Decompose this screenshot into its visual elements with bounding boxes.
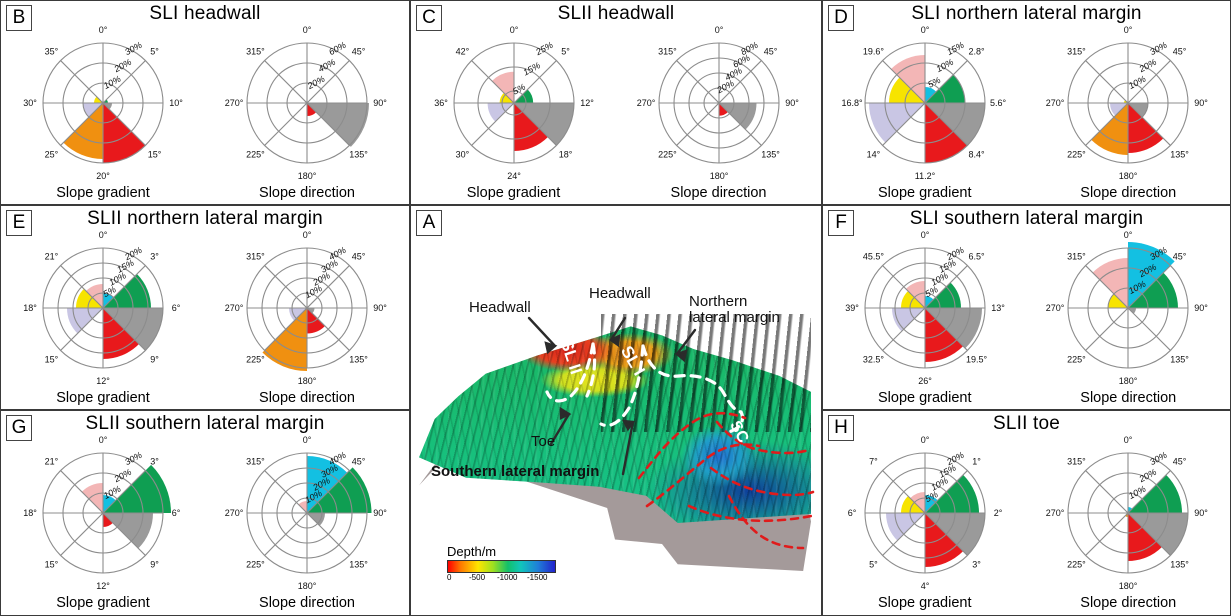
rose-ring-label: 10% (102, 74, 123, 91)
rose-caption-direction: Slope direction (259, 185, 355, 201)
rose-tick-label: 45.5° (863, 251, 885, 261)
rose-svg-slot: 0°3°6°9°12°15°18°21°10%20%30% (5, 433, 201, 601)
rose-petal (869, 103, 925, 143)
rose-tick-label: 315° (1067, 456, 1086, 466)
rose-direction: 0°45°90°135°180°225°270°315°10%20%30%40% (209, 228, 405, 396)
rose-ring-labels: 20%40%60%80% (714, 40, 759, 96)
rose-petals (307, 103, 369, 147)
rose-tick-label: 24° (507, 171, 521, 181)
rose-direction: 0°45°90°135°180°225°270°315°20%40%60% (209, 23, 405, 191)
rose-ring-label: 30% (319, 258, 340, 275)
map-label-toe: Toe (531, 434, 555, 450)
rose-axes (247, 453, 367, 573)
rose-tick-label: 90° (373, 303, 387, 313)
rose-ring-label: 20% (112, 57, 133, 75)
panel-letter-g: G (6, 415, 32, 441)
rose-tick-label: 135° (761, 150, 780, 160)
rose-caption-direction: Slope direction (1080, 595, 1176, 611)
rose-axes (1068, 248, 1188, 368)
rose-axes (247, 248, 367, 368)
rose-axes (454, 43, 574, 163)
rose-tick-label: 180° (1119, 171, 1138, 181)
rose-tick-label: 19.6° (863, 46, 885, 56)
rose-direction: 0°45°90°135°180°225°270°315°10%20%30%40% (209, 433, 405, 601)
panel-letter-b: B (6, 5, 32, 31)
rose-direction-c: 0°45°90°135°180°225°270°315°20%40%60%80%… (616, 19, 821, 204)
rose-tick-label: 135° (1171, 355, 1190, 365)
rose-tick-label: 0° (303, 230, 312, 240)
rose-petal (719, 103, 757, 130)
rose-axes (1068, 43, 1188, 163)
rose-tick-label: 90° (1194, 508, 1208, 518)
rose-ring-label: 60% (327, 40, 348, 57)
rose-caption-direction: Slope direction (259, 390, 355, 406)
rose-ring-label: 40% (327, 450, 348, 467)
rose-ring-label: 30% (123, 450, 144, 467)
rose-svg-slot: 0°45°90°135°180°225°270°315°10%20%30% (1030, 433, 1226, 601)
rose-tick-label: 1° (972, 456, 981, 466)
rose-tick-label: 13° (991, 303, 1005, 313)
rose-gradient: 0°3°6°9°12°15°18°21°5%10%15%20% (5, 228, 201, 396)
rose-tick-label: 20° (96, 171, 110, 181)
rose-gradient-e: 0°3°6°9°12°15°18°21°5%10%15%20% Slope gr… (1, 224, 205, 409)
rose-svg-slot: 0°5°10°15°20°25°30°35°10%20%30% (5, 23, 201, 191)
rose-tick-label: 0° (509, 25, 518, 35)
rose-tick-label: 18° (23, 508, 37, 518)
rose-tick-label: 0° (99, 25, 108, 35)
rose-axes (865, 453, 985, 573)
rose-tick-label: 270° (225, 98, 244, 108)
rose-tick-label: 15° (148, 150, 162, 160)
canyon-outline-dashed (639, 413, 813, 548)
rose-tick-label: 180° (298, 171, 317, 181)
map-label-headwall-right: Headwall (589, 286, 651, 302)
rose-tick-label: 12° (96, 376, 110, 386)
rose-tick-label: 0° (920, 230, 929, 240)
rose-ring-label: 15% (115, 258, 136, 275)
panel-g: G SLII southern lateral margin 0°3°6°9°1… (0, 410, 410, 616)
legend-tick-0: 0 (447, 573, 451, 582)
rose-tick-label: 270° (1046, 303, 1065, 313)
rose-tick-label: 315° (1067, 46, 1086, 56)
rose-tick-label: 45° (763, 46, 777, 56)
rose-pair-c: 0°5°12°18°24°30°36°42°5%15%25% Slope gra… (411, 19, 821, 204)
rose-tick-label: 270° (225, 508, 244, 518)
rose-tick-label: 6.5° (968, 251, 985, 261)
rose-tick-label: 39° (845, 303, 859, 313)
rose-tick-label: 45° (352, 46, 366, 56)
map-label-northern-lateral-margin: Northern lateral margin (689, 294, 780, 326)
rose-tick-label: 6° (847, 508, 856, 518)
rose-tick-label: 30° (455, 150, 469, 160)
rose-gradient: 0°2.8°5.6°8.4°11.2°14°16.8°19.6°5%10%15% (827, 23, 1023, 191)
rose-tick-label: 0° (1124, 435, 1133, 445)
rose-gradient-d: 0°2.8°5.6°8.4°11.2°14°16.8°19.6°5%10%15%… (823, 19, 1027, 204)
rose-tick-label: 90° (373, 508, 387, 518)
rose-petals (719, 103, 757, 130)
rose-direction-g: 0°45°90°135°180°225°270°315°10%20%30%40%… (205, 429, 409, 615)
panel-c: C SLII headwall 0°5°12°18°24°30°36°42°5%… (410, 0, 822, 205)
rose-svg-slot: 0°45°90°135°180°225°270°315°10%20%30% (1030, 23, 1226, 191)
rose-pair-e: 0°3°6°9°12°15°18°21°5%10%15%20% Slope gr… (1, 224, 409, 409)
rose-ring-label: 10% (303, 283, 324, 300)
rose-caption-direction: Slope direction (671, 185, 767, 201)
rose-direction-f: 0°45°90°135°180°225°270°315°10%20%30% Sl… (1027, 224, 1231, 409)
rose-tick-label: 6° (172, 508, 181, 518)
rose-tick-label: 90° (373, 98, 387, 108)
rose-svg-slot: 0°45°90°135°180°225°270°315°10%20%30%40% (209, 228, 405, 396)
rose-direction: 0°45°90°135°180°225°270°315°10%20%30% (1030, 433, 1226, 601)
rose-tick-label: 315° (658, 46, 677, 56)
rose-tick-label: 0° (1124, 230, 1133, 240)
rose-tick-label: 270° (1046, 508, 1065, 518)
rose-tick-label: 36° (434, 98, 448, 108)
rose-petal (63, 103, 103, 159)
rose-tick-label: 3° (972, 560, 981, 570)
rose-ring-label: 60% (731, 53, 752, 70)
rose-tick-label: 90° (1194, 303, 1208, 313)
rose-tick-label: 5° (561, 46, 570, 56)
rose-tick-label: 9° (150, 560, 159, 570)
legend-tick-3: -1500 (527, 573, 547, 582)
rose-tick-label: 180° (709, 171, 728, 181)
rose-direction-h: 0°45°90°135°180°225°270°315°10%20%30% Sl… (1027, 429, 1231, 615)
depth-legend: Depth/m 0 -500 -1000 -1500 (447, 544, 557, 585)
rose-direction-b: 0°45°90°135°180°225°270°315°20%40%60% Sl… (205, 19, 409, 204)
rose-tick-label: 0° (303, 25, 312, 35)
rose-caption-gradient: Slope gradient (878, 390, 972, 406)
rose-tick-label: 225° (246, 560, 265, 570)
rose-direction: 0°45°90°135°180°225°270°315°10%20%30% (1030, 228, 1226, 396)
map-stage: Headwall Headwall Northern lateral margi… (411, 206, 822, 616)
rose-tick-label: 180° (1119, 581, 1138, 591)
rose-tick-label: 135° (349, 560, 368, 570)
rose-tick-label: 90° (1194, 98, 1208, 108)
rose-tick-label: 21° (45, 456, 59, 466)
rose-tick-label: 16.8° (841, 98, 863, 108)
rose-tick-label: 18° (558, 150, 572, 160)
rose-ring-label: 10% (934, 57, 955, 74)
rose-gradient-b: 0°5°10°15°20°25°30°35°10%20%30% Slope gr… (1, 19, 205, 204)
rose-tick-label: 21° (45, 251, 59, 261)
rose-direction-e: 0°45°90°135°180°225°270°315°10%20%30%40%… (205, 224, 409, 409)
rose-ring-label: 15% (945, 40, 966, 57)
rose-tick-label: 0° (1124, 25, 1133, 35)
rose-tick-label: 5° (150, 46, 159, 56)
rose-tick-label: 10° (169, 98, 183, 108)
rose-svg-slot: 0°6.5°13°19.5°26°32.5°39°45.5°5%10%15%20… (827, 228, 1023, 396)
panel-a-map: A (410, 205, 822, 616)
legend-colorbar (447, 560, 556, 573)
rose-ring-label: 10% (929, 475, 950, 492)
rose-petal (262, 308, 307, 371)
rose-tick-label: 45° (1173, 251, 1187, 261)
rose-ring-label: 30% (1148, 450, 1169, 467)
annotation-arrows (529, 318, 695, 474)
rose-ring-label: 20% (714, 78, 735, 96)
rose-ring-label: 15% (521, 60, 542, 77)
rose-ring-label: 20% (1137, 467, 1158, 485)
panel-letter-h: H (828, 415, 854, 441)
rose-axes (43, 248, 163, 368)
rose-tick-label: 30° (23, 98, 37, 108)
rose-svg-slot: 0°45°90°135°180°225°270°315°10%20%30%40% (209, 433, 405, 601)
panel-letter-f: F (828, 210, 854, 236)
rose-ring-label: 20% (305, 74, 326, 92)
rose-tick-label: 0° (920, 435, 929, 445)
rose-tick-label: 19.5° (966, 355, 988, 365)
rose-gradient-h: 0°1°2°3°4°5°6°7°5%10%15%20% Slope gradie… (823, 429, 1027, 615)
rose-tick-label: 180° (1119, 376, 1138, 386)
rose-tick-label: 0° (99, 230, 108, 240)
rose-gradient: 0°6.5°13°19.5°26°32.5°39°45.5°5%10%15%20… (827, 228, 1023, 396)
rose-tick-label: 42° (455, 46, 469, 56)
legend-tick-2: -1000 (497, 573, 517, 582)
panel-b: B SLI headwall 0°5°10°15°20°25°30°35°10%… (0, 0, 410, 205)
rose-svg-slot: 0°2.8°5.6°8.4°11.2°14°16.8°19.6°5%10%15% (827, 23, 1023, 191)
panel-letter-d: D (828, 5, 854, 31)
rose-axes (865, 43, 985, 163)
rose-tick-label: 270° (225, 303, 244, 313)
rose-tick-label: 26° (918, 376, 932, 386)
rose-tick-label: 12° (96, 581, 110, 591)
rose-svg-slot: 0°1°2°3°4°5°6°7°5%10%15%20% (827, 433, 1023, 601)
rose-ring-label: 10% (1127, 74, 1148, 91)
rose-caption-gradient: Slope gradient (56, 185, 150, 201)
rose-ring-labels: 10%20%30%40% (303, 245, 348, 300)
rose-tick-label: 35° (45, 46, 59, 56)
rose-tick-label: 12° (580, 98, 594, 108)
rose-ring-label: 10% (929, 270, 950, 287)
rose-tick-label: 225° (1067, 150, 1086, 160)
rose-tick-label: 225° (246, 150, 265, 160)
rose-petal (103, 513, 153, 548)
rose-tick-label: 2.8° (968, 46, 985, 56)
rose-axes (247, 43, 367, 163)
rose-gradient: 0°5°12°18°24°30°36°42°5%15%25% (416, 23, 612, 191)
rose-ring-label: 20% (1137, 57, 1158, 75)
rose-tick-label: 225° (658, 150, 677, 160)
panel-letter-a: A (416, 210, 442, 236)
rose-svg-slot: 0°45°90°135°180°225°270°315°10%20%30% (1030, 228, 1226, 396)
legend-ticks: 0 -500 -1000 -1500 (447, 573, 554, 585)
rose-tick-label: 0° (99, 435, 108, 445)
rose-caption-gradient: Slope gradient (56, 595, 150, 611)
rose-svg-slot: 0°5°12°18°24°30°36°42°5%15%25% (416, 23, 612, 191)
rose-pair-h: 0°1°2°3°4°5°6°7°5%10%15%20% Slope gradie… (823, 429, 1230, 615)
rose-axes (1068, 453, 1188, 573)
rose-caption-direction: Slope direction (1080, 390, 1176, 406)
rose-tick-label: 270° (1046, 98, 1065, 108)
rose-tick-label: 45° (352, 251, 366, 261)
rose-ring-label: 40% (316, 57, 337, 74)
rose-tick-label: 315° (246, 46, 265, 56)
rose-axes (865, 248, 985, 368)
panel-letter-c: C (416, 5, 442, 31)
rose-tick-label: 225° (1067, 560, 1086, 570)
rose-caption-gradient: Slope gradient (878, 595, 972, 611)
rose-tick-label: 32.5° (863, 355, 885, 365)
rose-tick-label: 0° (714, 25, 723, 35)
panel-h: H SLII toe 0°1°2°3°4°5°6°7°5%10%15%20% S… (822, 410, 1231, 616)
rose-petal (307, 103, 369, 147)
rose-axes (43, 453, 163, 573)
rose-tick-label: 11.2° (915, 171, 936, 181)
panel-e: E SLII northern lateral margin 0°3°6°9°1… (0, 205, 410, 410)
rose-tick-label: 2° (993, 508, 1002, 518)
rose-ring-label: 40% (327, 245, 348, 262)
rose-ring-label: 80% (739, 40, 760, 57)
rose-ring-label: 10% (107, 270, 128, 287)
rose-caption-direction: Slope direction (259, 595, 355, 611)
rose-caption-gradient: Slope gradient (56, 390, 150, 406)
rose-svg-slot: 0°3°6°9°12°15°18°21°5%10%15%20% (5, 228, 201, 396)
rose-axes (43, 43, 163, 163)
rose-gradient-f: 0°6.5°13°19.5°26°32.5°39°45.5°5%10%15%20… (823, 224, 1027, 409)
rose-petal (307, 308, 325, 334)
panel-d: D SLI northern lateral margin 0°2.8°5.6°… (822, 0, 1231, 205)
rose-gradient-c: 0°5°12°18°24°30°36°42°5%15%25% Slope gra… (411, 19, 616, 204)
rose-direction-d: 0°45°90°135°180°225°270°315°10%20%30% Sl… (1027, 19, 1231, 204)
rose-tick-label: 45° (1173, 456, 1187, 466)
rose-pair-d: 0°2.8°5.6°8.4°11.2°14°16.8°19.6°5%10%15%… (823, 19, 1230, 204)
rose-tick-label: 270° (636, 98, 655, 108)
rose-caption-gradient: Slope gradient (467, 185, 561, 201)
rose-petal (82, 483, 103, 513)
bathymetry-map: Headwall Headwall Northern lateral margi… (411, 206, 821, 615)
panel-f: F SLI southern lateral margin 0°6.5°13°1… (822, 205, 1231, 410)
rose-direction: 0°45°90°135°180°225°270°315°10%20%30% (1030, 23, 1226, 191)
figure-root: B SLI headwall 0°5°10°15°20°25°30°35°10%… (0, 0, 1231, 616)
rose-petal (487, 103, 513, 122)
rose-axes (659, 43, 779, 163)
rose-tick-label: 135° (1171, 560, 1190, 570)
rose-petal (67, 308, 103, 333)
rose-tick-label: 225° (246, 355, 265, 365)
rose-tick-label: 315° (1067, 251, 1086, 261)
rose-tick-label: 90° (785, 98, 799, 108)
panel-letter-e: E (6, 210, 32, 236)
rose-tick-label: 0° (920, 25, 929, 35)
rose-direction: 0°45°90°135°180°225°270°315°20%40%60%80% (621, 23, 817, 191)
rose-caption-gradient: Slope gradient (878, 185, 972, 201)
rose-petals (487, 72, 573, 151)
rose-svg-slot: 0°45°90°135°180°225°270°315°20%40%60% (209, 23, 405, 191)
rose-petals (869, 55, 985, 163)
rose-ring-label: 30% (123, 40, 144, 57)
map-label-southern-lateral-margin: Southern lateral margin (431, 464, 599, 480)
rose-tick-label: 315° (246, 456, 265, 466)
rose-pair-f: 0°6.5°13°19.5°26°32.5°39°45.5°5%10%15%20… (823, 224, 1230, 409)
rose-tick-label: 5.6° (990, 98, 1007, 108)
rose-ring-label: 15% (937, 463, 958, 480)
rose-tick-label: 180° (298, 376, 317, 386)
rose-tick-label: 14° (866, 150, 880, 160)
rose-tick-label: 25° (45, 150, 59, 160)
rose-tick-label: 315° (246, 251, 265, 261)
legend-tick-1: -500 (469, 573, 485, 582)
rose-tick-label: 0° (303, 435, 312, 445)
rose-tick-label: 135° (349, 355, 368, 365)
rose-gradient-g: 0°3°6°9°12°15°18°21°10%20%30% Slope grad… (1, 429, 205, 615)
rose-tick-label: 7° (869, 456, 878, 466)
rose-tick-label: 6° (172, 303, 181, 313)
rose-tick-label: 4° (920, 581, 929, 591)
rose-tick-label: 225° (1067, 355, 1086, 365)
rose-tick-label: 45° (1173, 46, 1187, 56)
rose-tick-label: 18° (23, 303, 37, 313)
rose-tick-label: 15° (45, 560, 59, 570)
rose-pair-b: 0°5°10°15°20°25°30°35°10%20%30% Slope gr… (1, 19, 409, 204)
rose-ring-label: 25% (533, 40, 554, 58)
rose-tick-label: 9° (150, 355, 159, 365)
rose-tick-label: 45° (352, 456, 366, 466)
rose-gradient: 0°1°2°3°4°5°6°7°5%10%15%20% (827, 433, 1023, 601)
rose-tick-label: 135° (349, 150, 368, 160)
rose-ring-label: 30% (1148, 40, 1169, 57)
rose-tick-label: 5° (869, 560, 878, 570)
rose-tick-label: 15° (45, 355, 59, 365)
rose-petals (262, 308, 325, 371)
rose-tick-label: 180° (298, 581, 317, 591)
rose-tick-label: 135° (1171, 150, 1190, 160)
rose-tick-label: 8.4° (968, 150, 985, 160)
rose-pair-g: 0°3°6°9°12°15°18°21°10%20%30% Slope grad… (1, 429, 409, 615)
rose-ring-label: 40% (723, 65, 744, 82)
rose-ring-label: 20% (112, 467, 133, 485)
legend-title: Depth/m (447, 544, 557, 559)
rose-tick-label: 3° (150, 251, 159, 261)
rose-caption-direction: Slope direction (1080, 185, 1176, 201)
map-label-headwall-left: Headwall (469, 300, 531, 316)
rose-gradient: 0°5°10°15°20°25°30°35°10%20%30% (5, 23, 201, 191)
rose-gradient: 0°3°6°9°12°15°18°21°10%20%30% (5, 433, 201, 601)
rose-petal (103, 103, 145, 163)
rose-ring-label: 15% (937, 258, 958, 275)
rose-svg-slot: 0°45°90°135°180°225°270°315°20%40%60%80% (621, 23, 817, 191)
rose-tick-label: 3° (150, 456, 159, 466)
